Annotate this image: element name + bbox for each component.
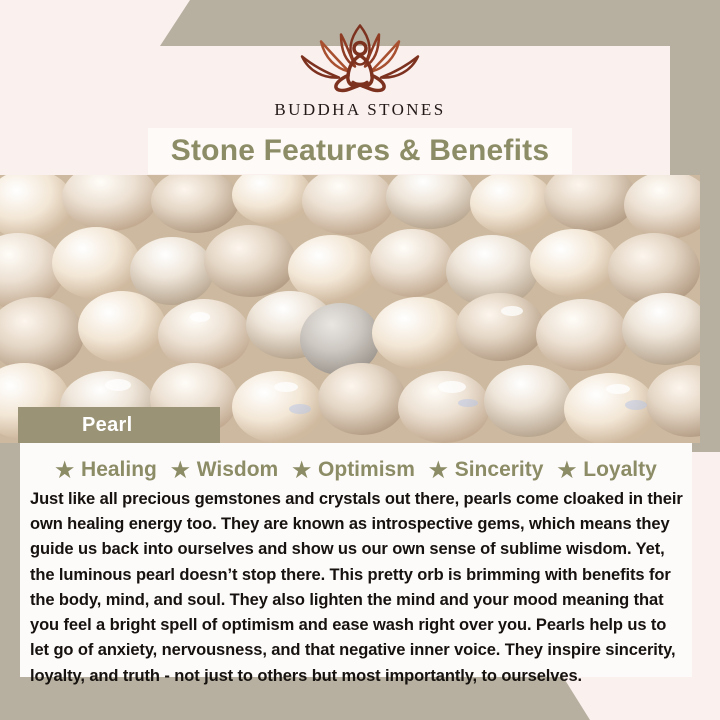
stone-name-banner: Pearl (18, 407, 220, 443)
description-text: Just like all precious gemstones and cry… (20, 482, 692, 689)
benefit-item-healing: ★ Healing (55, 458, 157, 482)
star-icon: ★ (429, 460, 448, 481)
benefits-list: ★ Healing ★ Wisdom ★ Optimism ★ Sincerit… (20, 443, 692, 482)
page-title-box: Stone Features & Benefits (148, 128, 572, 174)
pearl-photo-image (0, 175, 700, 443)
benefit-label: Healing (81, 458, 157, 482)
star-icon: ★ (557, 460, 576, 481)
brand-logo: BUDDHA STONES (230, 18, 490, 120)
stone-name: Pearl (18, 414, 132, 437)
benefit-item-wisdom: ★ Wisdom (171, 458, 278, 482)
benefit-item-sincerity: ★ Sincerity (429, 458, 544, 482)
star-icon: ★ (292, 460, 311, 481)
benefit-item-optimism: ★ Optimism (292, 458, 415, 482)
benefits-panel: ★ Healing ★ Wisdom ★ Optimism ★ Sincerit… (20, 443, 692, 677)
benefit-label: Optimism (318, 458, 415, 482)
brand-name: BUDDHA STONES (230, 100, 490, 120)
star-icon: ★ (55, 460, 74, 481)
page-title: Stone Features & Benefits (171, 134, 549, 168)
pearl-photo: Pearl (0, 175, 700, 443)
star-icon: ★ (171, 460, 190, 481)
benefit-label: Loyalty (583, 458, 657, 482)
benefit-label: Wisdom (197, 458, 278, 482)
lotus-meditation-icon (285, 18, 435, 96)
benefit-label: Sincerity (455, 458, 544, 482)
benefit-item-loyalty: ★ Loyalty (557, 458, 656, 482)
